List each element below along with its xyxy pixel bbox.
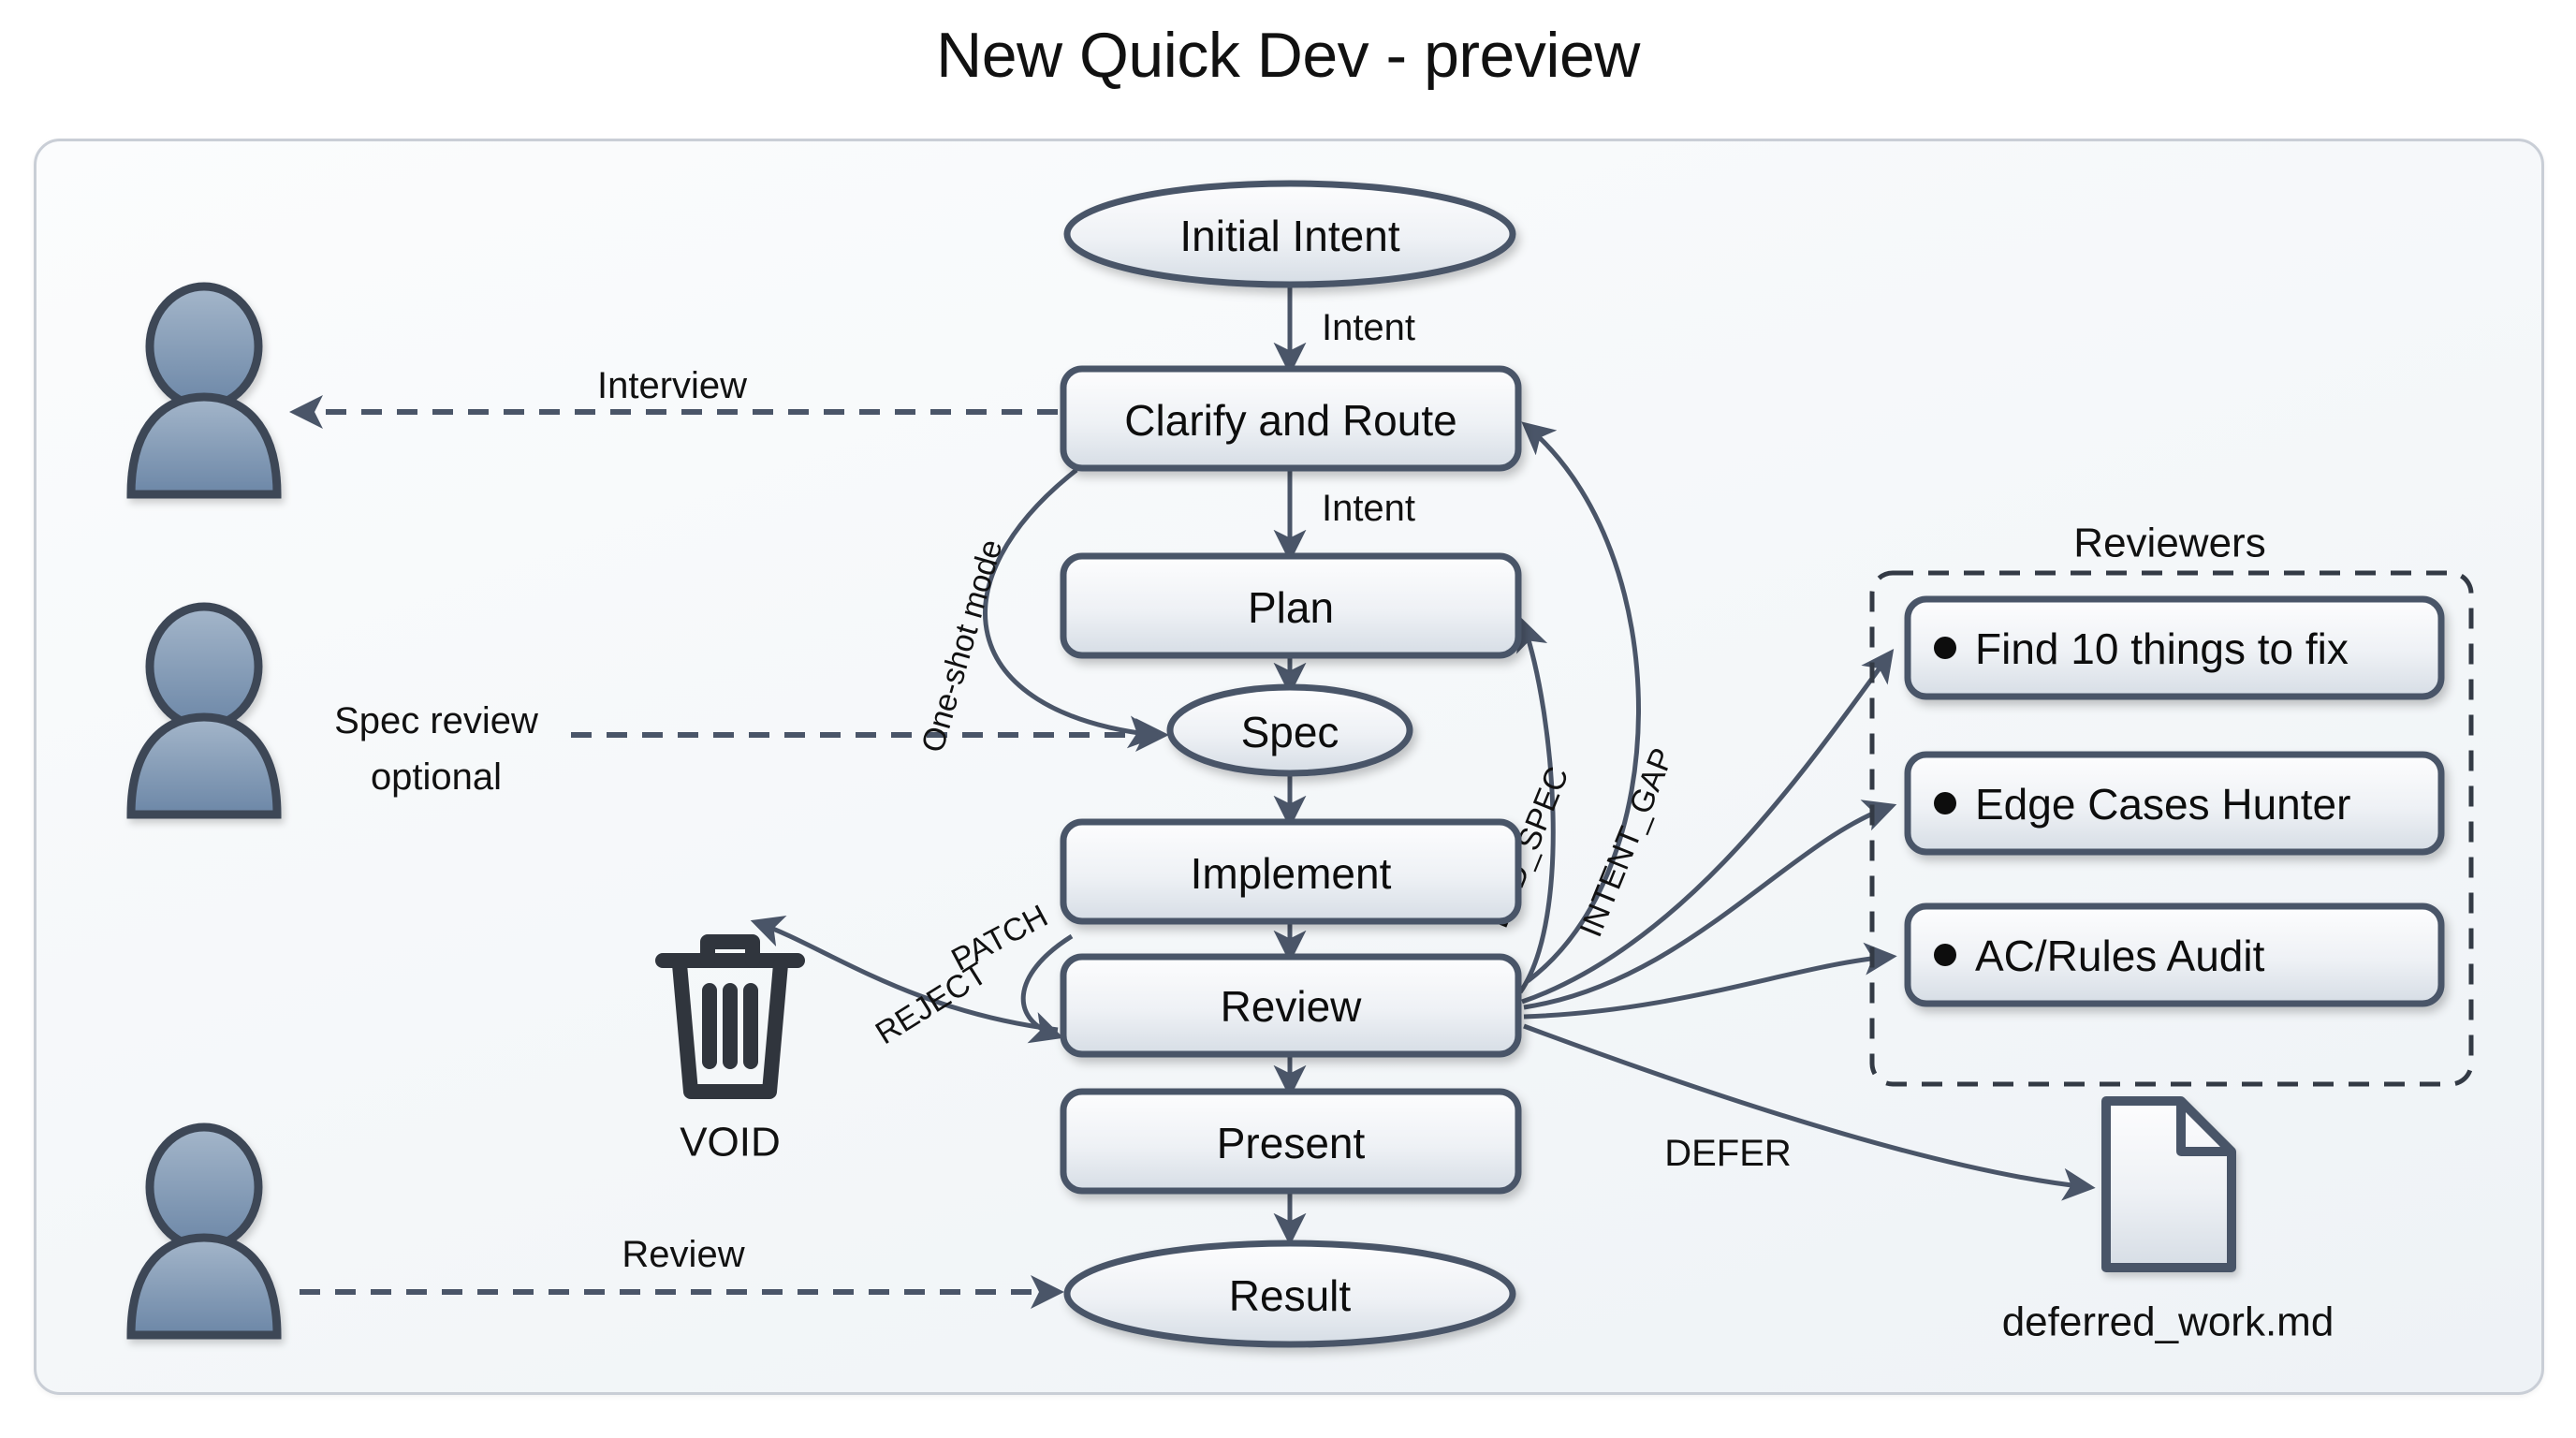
node-result[interactable]: Result (1067, 1243, 1513, 1344)
interview-actor[interactable] (131, 286, 277, 494)
node-initial-intent-label: Initial Intent (1179, 212, 1399, 260)
spec-review-actor[interactable] (131, 607, 277, 814)
edge-review-to-deferred-file (1524, 1026, 2087, 1187)
node-review-label: Review (1221, 982, 1363, 1031)
void-label: VOID (680, 1120, 781, 1166)
person-icon (150, 1127, 258, 1247)
edge-label-intent-1: Intent (1322, 307, 1415, 348)
reviewer-item-1-label: Find 10 things to fix (1975, 624, 2349, 673)
node-initial-intent[interactable]: Initial Intent (1067, 183, 1513, 285)
reviewer-item-2-label: Edge Cases Hunter (1975, 780, 2350, 829)
reviewers-group-title: Reviewers (2073, 521, 2265, 566)
person-icon (131, 717, 277, 814)
node-present-label: Present (1217, 1119, 1366, 1167)
reviewer-item-3-label: AC/Rules Audit (1975, 932, 2265, 980)
reviewer-item-2[interactable]: Edge Cases Hunter (1908, 755, 2441, 852)
edge-label-interview: Interview (597, 365, 747, 406)
edge-label-reject: REJECT (870, 956, 993, 1051)
edge-label-defer: DEFER (1664, 1133, 1792, 1174)
edge-review-to-reviewer-1 (1522, 655, 1889, 1002)
edge-review-to-reviewer-3 (1524, 957, 1889, 1017)
reviewer-item-1[interactable]: Find 10 things to fix (1908, 599, 2441, 697)
node-spec[interactable]: Spec (1170, 687, 1410, 773)
deferred-work-artifact[interactable]: deferred_work.md (2002, 1101, 2334, 1345)
edge-label-spec-review-line1: Spec review (334, 700, 538, 741)
node-clarify-and-route-label: Clarify and Route (1124, 396, 1456, 445)
person-icon (150, 286, 258, 406)
person-icon (131, 1238, 277, 1335)
edge-label-intent-gap: INTENT_GAP (1573, 743, 1680, 942)
void-artifact[interactable]: VOID (663, 942, 798, 1166)
result-review-actor[interactable] (131, 1127, 277, 1335)
edge-label-spec-review-line2: optional (371, 756, 502, 798)
bullet-icon (1934, 944, 1956, 966)
edge-label-one-shot-mode: One-shot mode (915, 536, 1009, 756)
reviewer-item-3[interactable]: AC/Rules Audit (1908, 906, 2441, 1004)
person-icon (150, 607, 258, 726)
bullet-icon (1934, 792, 1956, 814)
node-plan[interactable]: Plan (1063, 556, 1518, 655)
node-review[interactable]: Review (1063, 957, 1518, 1054)
node-clarify-and-route[interactable]: Clarify and Route (1063, 369, 1518, 468)
trash-icon (663, 942, 798, 1092)
person-icon (131, 397, 277, 494)
diagram-canvas: Intent Intent Interview Spec review opti… (0, 0, 2576, 1438)
edge-label-intent-2: Intent (1322, 488, 1415, 529)
deferred-work-label: deferred_work.md (2002, 1299, 2334, 1345)
node-implement[interactable]: Implement (1063, 822, 1518, 921)
edge-label-review-actor: Review (622, 1234, 744, 1275)
node-present[interactable]: Present (1063, 1092, 1518, 1191)
node-result-label: Result (1229, 1271, 1352, 1320)
node-implement-label: Implement (1191, 849, 1392, 898)
bullet-icon (1934, 637, 1956, 659)
node-spec-label: Spec (1241, 708, 1339, 756)
document-icon (2106, 1101, 2232, 1268)
diagram-root: New Quick Dev - preview (0, 0, 2576, 1438)
node-plan-label: Plan (1248, 583, 1334, 632)
